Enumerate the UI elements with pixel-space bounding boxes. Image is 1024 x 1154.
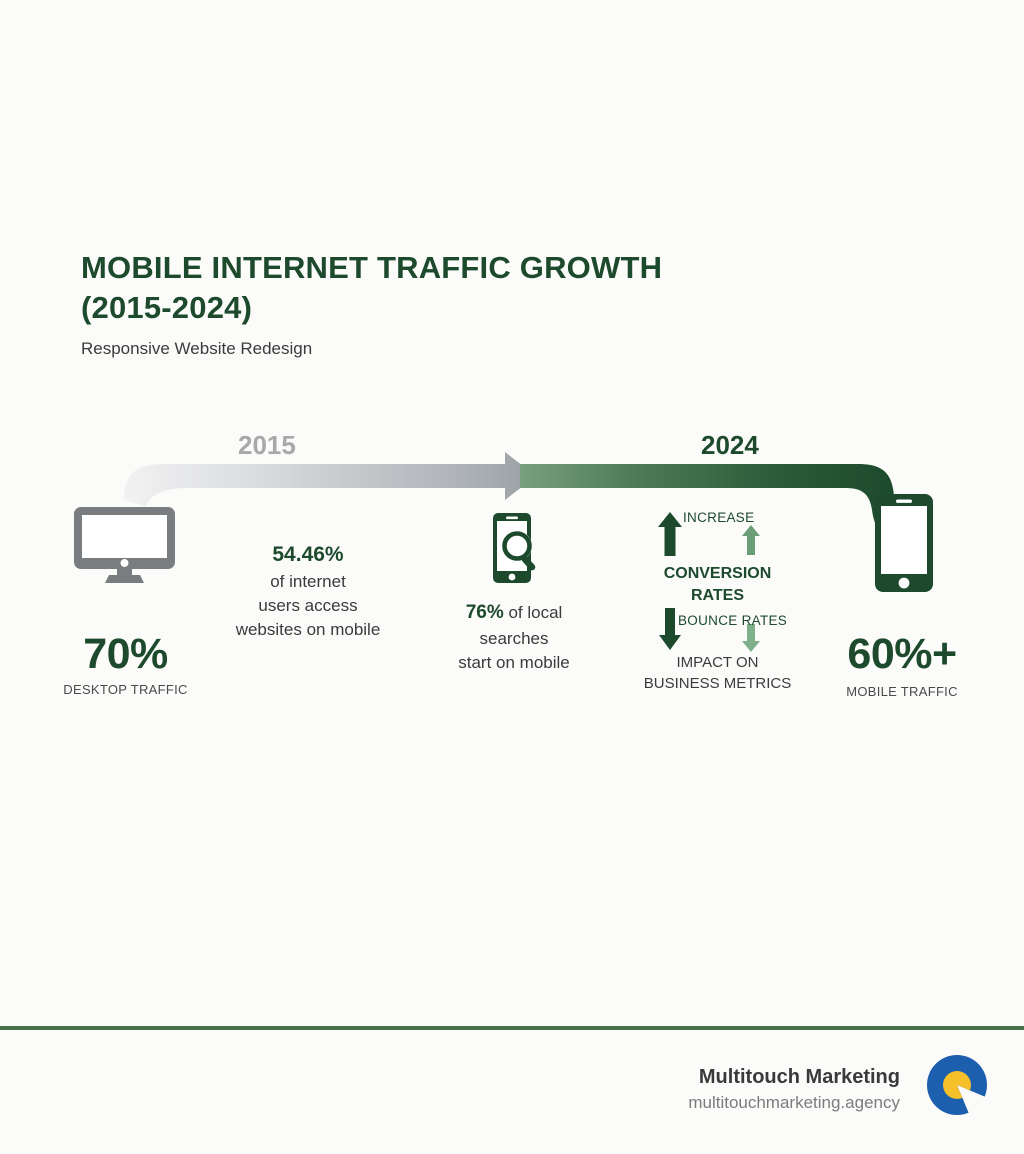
business-impact-cluster: INCREASE CONVERSION RATES BOUNCE RATES I… [630,500,830,705]
arrow-up-accent-icon [742,525,760,555]
local-search-percent: 76% [466,602,504,623]
mobile-phone-icon [875,494,933,592]
brand-name: Multitouch Marketing [699,1066,900,1089]
desktop-monitor-icon [72,505,177,585]
conversion-rates-line-1: CONVERSION [664,565,772,582]
conversion-rates-label: CONVERSION RATES [630,563,805,606]
mobile-search-icon [487,512,545,584]
conversion-rates-line-2: RATES [691,587,744,604]
business-impact-label: IMPACT ON BUSINESS METRICS [625,652,810,695]
local-search-line-2: searches [480,629,549,648]
business-impact-line-2: BUSINESS METRICS [644,675,792,692]
arrow-down-accent-icon [742,624,760,652]
local-search-line-3: start on mobile [458,653,570,672]
desktop-traffic-label: DESKTOP TRAFFIC [43,682,208,697]
page-title: MOBILE INTERNET TRAFFIC GROWTH (2015-202… [81,248,781,327]
arrow-up-icon [658,512,682,556]
mobile-traffic-label: MOBILE TRAFFIC [818,684,986,699]
title-line-2: (2015-2024) [81,288,781,328]
mobile-access-percent: 54.46% [210,540,406,570]
local-search-line-1-rest: of local [504,603,563,622]
title-line-1: MOBILE INTERNET TRAFFIC GROWTH [81,250,662,285]
mobile-access-line-1: of internet [210,570,406,594]
infographic-canvas: MOBILE INTERNET TRAFFIC GROWTH (2015-202… [0,0,1024,1154]
local-search-stat: 76% of local searches start on mobile [424,600,604,675]
page-subtitle: Responsive Website Redesign [81,339,312,359]
mobile-access-stat: 54.46% of internet users access websites… [210,540,406,642]
multitouch-logo-icon [926,1054,988,1116]
brand-url[interactable]: multitouchmarketing.agency [688,1093,900,1113]
increase-label: INCREASE [683,510,754,525]
mobile-traffic-value: 60%+ [818,630,986,679]
bounce-rates-label: BOUNCE RATES [678,613,787,628]
mobile-access-line-2: users access [210,594,406,618]
timeline-arrow-gray-segment [124,452,536,506]
business-impact-line-1: IMPACT ON [677,654,759,671]
footer-divider [0,1026,1024,1030]
desktop-traffic-value: 70% [43,630,208,679]
mobile-access-line-3: websites on mobile [210,618,406,642]
